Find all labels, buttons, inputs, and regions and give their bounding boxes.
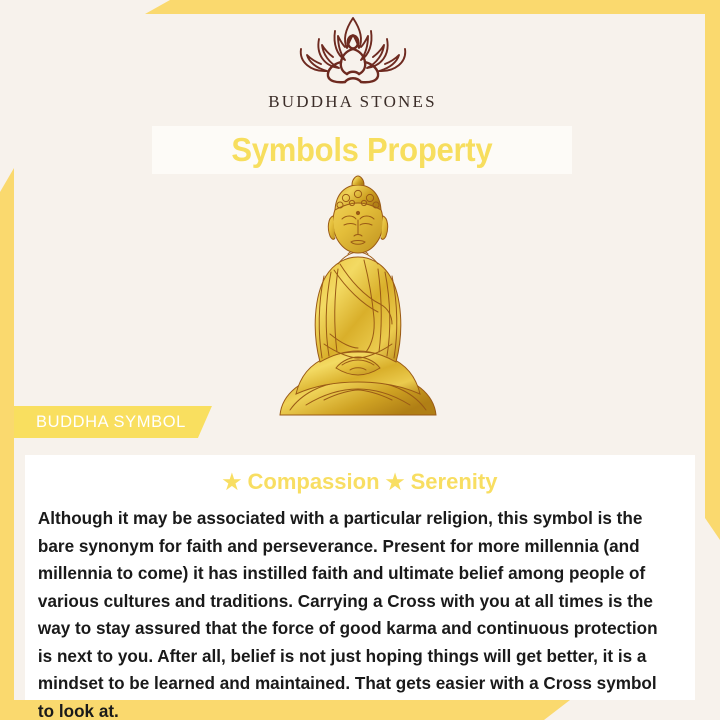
lotus-meditation-figure-icon (283, 14, 423, 86)
subheadline: ★ Compassion ★ Serenity (33, 469, 687, 495)
star-icon-2: ★ (386, 471, 405, 494)
section-tag-buddha-symbol: BUDDHA SYMBOL (14, 406, 212, 438)
star-icon-1: ★ (223, 471, 242, 494)
decor-top-bar (145, 0, 720, 14)
content-panel: ★ Compassion ★ Serenity Although it may … (25, 455, 695, 700)
brand-name: BUDDHA STONES (268, 92, 437, 112)
hero-image-container (268, 172, 448, 420)
golden-seated-buddha-statue (268, 172, 448, 420)
decor-right-bar (705, 14, 720, 540)
section-tag-label: BUDDHA SYMBOL (36, 413, 186, 432)
page-title: Symbols Property (232, 131, 493, 169)
infographic-page: BUDDHA STONES Symbols Property (0, 0, 720, 720)
subheadline-compassion: Compassion (248, 469, 380, 494)
brand-header: BUDDHA STONES (0, 14, 705, 112)
title-band: Symbols Property (152, 126, 572, 174)
body-copy: Although it may be associated with a par… (33, 505, 677, 720)
subheadline-serenity: Serenity (411, 469, 498, 494)
decor-left-bar (0, 168, 14, 700)
